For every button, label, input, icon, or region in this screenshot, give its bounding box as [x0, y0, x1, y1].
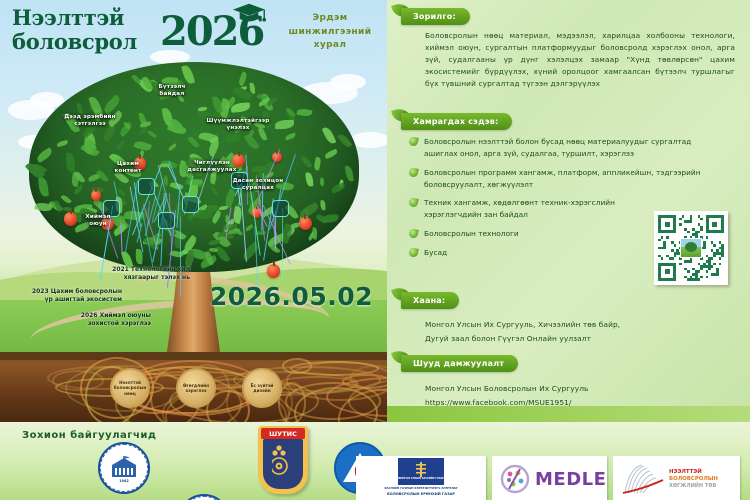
qr-module [700, 276, 703, 279]
qr-module [713, 263, 716, 266]
qr-module [719, 257, 722, 260]
leaf [209, 240, 220, 246]
root-node: Нээлттэй боловсролын нөөц [110, 368, 150, 408]
footer-organizers: Зохион байгуулагчид 1942 [0, 422, 750, 500]
leaf [249, 83, 254, 94]
title-line-2: боловсрол [12, 30, 137, 54]
circuit-node-icon [231, 172, 248, 189]
msue-logo [178, 494, 230, 500]
qr-module [716, 273, 719, 276]
circuit-node-icon [103, 200, 120, 217]
leaf [322, 125, 337, 145]
leaf [324, 149, 338, 159]
gov-emblem: МОНГОЛ УЛСЫН ЗАСГИЙН ГАЗАР [398, 458, 444, 485]
section-tab-3: Хаана: [401, 292, 459, 309]
leaf [181, 64, 195, 84]
leaf [244, 224, 253, 231]
qr-module [721, 255, 724, 258]
apple [64, 212, 78, 226]
medle-wordmark: MEDLE [535, 469, 606, 490]
section-body-1: Боловсролын нөөц материал, мэдээлэл, хар… [425, 30, 735, 90]
soyombo-icon [414, 462, 428, 477]
bullet-leaf-icon [408, 136, 419, 147]
leaf [75, 222, 91, 233]
leaf [60, 194, 71, 205]
leaf [35, 146, 54, 162]
leaf [344, 165, 354, 182]
medle-logo: MEDLE [492, 456, 607, 500]
neelttei-bolovsrol-logo: НЭЭЛТТЭЙ БОЛОВСРОЛЫН ХӨГЖЛИЙН ТӨВ [613, 456, 740, 500]
leaf [211, 96, 222, 114]
leaf [53, 199, 62, 212]
qr-module [674, 244, 677, 247]
bullet-leaf-icon [408, 167, 419, 178]
qr-module [711, 265, 714, 268]
qr-module [703, 247, 706, 250]
qr-module [706, 236, 709, 239]
apple [91, 190, 102, 201]
section-body-3: Монгол Улсын Их Сургууль, Хичээлийн төв … [425, 318, 735, 345]
tree-canopy [29, 62, 359, 272]
root-label: Ёс зүйтэй дизайн [251, 383, 274, 394]
cloud [350, 132, 387, 148]
leaf [66, 113, 81, 134]
milestone-label: 2026 Хиймэл оюуны зохистой хэрэглээ [36, 312, 151, 328]
right-info-panel: Зорилго:Боловсролын нөөц материал, мэдээ… [387, 0, 750, 422]
section-tab-1: Зорилго: [401, 8, 470, 25]
qr-module [658, 239, 661, 242]
event-subtitle: Эрдэм шинжилгээний хурал [280, 12, 380, 53]
leaf [210, 186, 217, 196]
circuit-node-icon [138, 178, 155, 195]
leaf [337, 133, 353, 150]
qr-module [661, 257, 664, 260]
leaf [76, 102, 83, 114]
circuit-node-icon [182, 196, 199, 213]
qr-module [679, 223, 682, 226]
apple [299, 217, 312, 230]
list-item-text: Боловсролын нээлттэй болон бусад нөөц ма… [424, 136, 724, 160]
leaf [321, 201, 326, 211]
bullet-leaf-icon [408, 247, 419, 258]
qr-module [666, 236, 669, 239]
root-node: Өгөгдлийн хэрэглээ [176, 368, 216, 408]
qr-module [713, 244, 716, 247]
root-strand [278, 382, 306, 422]
panel-bottom-band [387, 406, 750, 422]
medle-mark-icon [500, 464, 530, 494]
msu-logo: 1942 [98, 442, 150, 494]
cloud [330, 74, 366, 90]
qr-module [708, 268, 711, 271]
qr-module [687, 270, 690, 273]
nbht-line-2: БОЛОВСРОЛЫН [669, 476, 718, 483]
milestone-label: 2023 Цахим боловсролын үр ашигтай экосис… [7, 288, 122, 304]
qr-center-logo [680, 238, 702, 258]
leaf [224, 135, 241, 143]
qr-module [687, 231, 690, 234]
leaf [297, 108, 313, 118]
msu-year: 1942 [100, 479, 148, 483]
title-line-1: Нээлттэй [12, 6, 137, 30]
nbht-wordmark: НЭЭЛТТЭЙ БОЛОВСРОЛЫН ХӨГЖЛИЙН ТӨВ [669, 469, 718, 489]
leaf [89, 96, 104, 117]
leaf [208, 171, 217, 184]
circuit-node-icon [272, 200, 289, 217]
agency-line-1: ЗАСГИЙН ГАЗРЫН ХЭРЭГЖҮҮЛЭГЧ АГЕНТЛАГ [358, 487, 484, 490]
leaf [137, 127, 147, 136]
list-item: Боловсролын нээлттэй болон бусад нөөц ма… [409, 136, 729, 160]
poster-root: Бүтээлч байдалДээд эрэмбийн сэтгэлгээШүү… [0, 0, 750, 500]
organizers-label: Зохион байгуулагчид [22, 430, 156, 441]
qr-module [698, 270, 701, 273]
qr-module [706, 276, 709, 279]
bullet-leaf-icon [408, 198, 419, 209]
qr-module [711, 257, 714, 260]
leaf [101, 124, 118, 142]
leaf [66, 153, 75, 172]
leaf [284, 133, 296, 141]
leaf [163, 176, 168, 186]
qr-module [698, 231, 701, 234]
leaf [96, 169, 109, 184]
list-item-text: Боловсролын программ хангамж, платформ, … [424, 167, 724, 191]
root-label: Өгөгдлийн хэрэглээ [183, 383, 209, 394]
section-tab-2: Хамрагдах сэдэв: [401, 113, 512, 130]
apple [232, 154, 245, 167]
leaf [258, 127, 268, 141]
list-item: Боловсролын программ хангамж, платформ, … [409, 167, 729, 191]
qr-code[interactable] [654, 211, 728, 285]
qr-module [700, 228, 703, 231]
event-date: 2026.05.02 [210, 282, 373, 311]
leaf [313, 157, 322, 171]
leaf [108, 151, 127, 169]
leaf [214, 245, 231, 265]
leaf [115, 139, 126, 150]
nbht-line-3: ХӨГЖЛИЙН ТӨВ [669, 483, 718, 489]
qr-module [713, 255, 716, 258]
leaf [146, 129, 156, 139]
qr-module [679, 263, 682, 266]
qr-module [663, 247, 666, 250]
qr-module [690, 220, 693, 223]
milestone-label: 2021 Технологийн хил хязгаарыг тэлэх нь [75, 266, 190, 282]
shutis-name-band: ШУТИС [261, 428, 305, 439]
list-item-text: Бусад [424, 247, 624, 259]
shutis-logo: ШУТИС [258, 426, 308, 494]
leaf [275, 120, 294, 129]
qr-module [698, 278, 701, 281]
leaf [219, 206, 228, 210]
leaf [330, 183, 346, 194]
qr-module [661, 236, 664, 239]
msu-seal-ring [100, 444, 148, 492]
bullet-leaf-icon [408, 228, 419, 239]
leaf [70, 172, 79, 187]
shutis-emblem-icon [272, 444, 294, 478]
leaf [232, 123, 244, 134]
qr-module [671, 257, 674, 260]
bolovsrol-ereg-gazar-logo: МОНГОЛ УЛСЫН ЗАСГИЙН ГАЗАР ЗАСГИЙН ГАЗРЫ… [356, 456, 486, 500]
list-item-text: Боловсролын технологи [424, 228, 624, 240]
leaf [300, 155, 312, 170]
qr-module [674, 255, 677, 258]
qr-module [706, 270, 709, 273]
qr-module [700, 268, 703, 271]
leaf [320, 177, 325, 186]
leaf [237, 72, 248, 87]
soil-surface [0, 352, 387, 360]
qr-module [690, 260, 693, 263]
qr-module [682, 215, 685, 218]
leaf [311, 227, 318, 239]
qr-finder [658, 215, 676, 233]
leaf [231, 103, 251, 113]
leaf [244, 133, 260, 151]
left-illustration-panel: Бүтээлч байдалДээд эрэмбийн сэтгэлгээШүү… [0, 0, 387, 422]
section-tab-4: Шууд дамжуулалт [401, 355, 518, 372]
apple [267, 264, 281, 278]
list-item-text: Техник хангамж, хөдөлгөөнт техник-хэрэгс… [424, 197, 624, 221]
apple [134, 157, 147, 170]
leaf [38, 177, 48, 196]
nbht-line-1: НЭЭЛТТЭЙ [669, 469, 718, 476]
graduation-cap-icon [232, 2, 266, 24]
qr-module [679, 218, 682, 221]
qr-finder [658, 263, 676, 281]
nbht-fan-icon [619, 462, 665, 496]
root-label: Нээлттэй боловсролын нөөц [114, 380, 147, 396]
leaf [305, 171, 313, 186]
leaf [168, 143, 178, 151]
gov-emblem-caption: МОНГОЛ УЛСЫН ЗАСГИЙН ГАЗАР [398, 478, 444, 481]
msue-seal-ring [180, 496, 228, 500]
circuit-node-icon [158, 212, 175, 229]
page-title: Нээлттэй боловсрол [12, 6, 137, 53]
leaf [176, 93, 184, 103]
agency-line-2: БОЛОВСРОЛЫН ЕРӨНХИЙ ГАЗАР [358, 492, 484, 496]
leaf [56, 139, 68, 146]
qr-module [700, 218, 703, 221]
qr-module [719, 263, 722, 266]
root-node: Ёс зүйтэй дизайн [242, 368, 282, 408]
qr-finder [706, 215, 724, 233]
